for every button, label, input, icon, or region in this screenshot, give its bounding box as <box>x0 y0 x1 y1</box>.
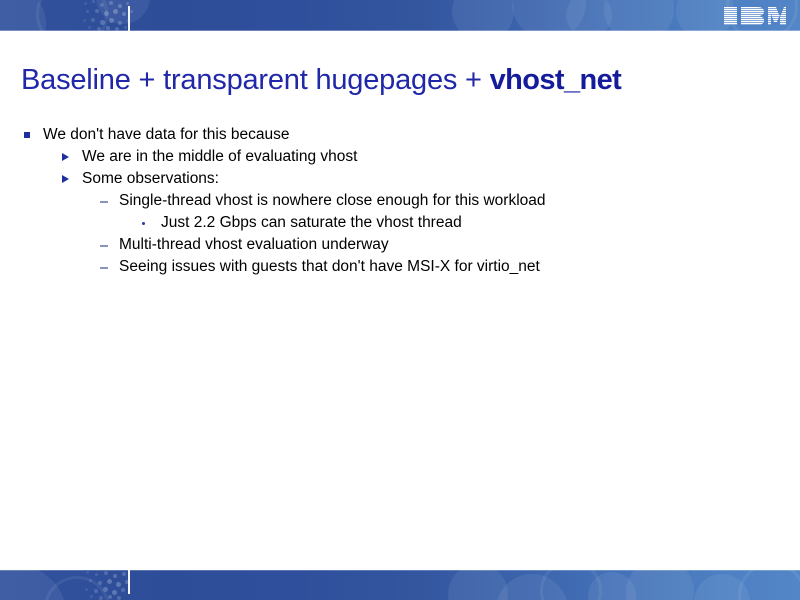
list-item: Just 2.2 Gbps can saturate the vhost thr… <box>136 212 800 234</box>
list-item: Some observations: <box>58 168 800 190</box>
bullet-dot-icon <box>142 222 145 225</box>
bullet-triangle-icon <box>62 153 69 161</box>
decorative-circle-ring <box>738 570 800 600</box>
halftone-dot-cluster <box>84 570 140 600</box>
list-item: Seeing issues with guests that don't hav… <box>96 256 800 278</box>
header-decoration <box>0 0 800 31</box>
list-item-label: Single-thread vhost is nowhere close eno… <box>119 190 546 212</box>
list-item-label: We are in the middle of evaluating vhost <box>82 146 357 168</box>
list-item-label: Multi-thread vhost evaluation underway <box>119 234 389 256</box>
bullet-dash-icon <box>100 245 108 247</box>
header-bottom-edge <box>0 30 800 31</box>
bullet-triangle-icon <box>62 175 69 183</box>
list-item-label: Seeing issues with guests that don't hav… <box>119 256 540 278</box>
list-item-label: Some observations: <box>82 168 219 190</box>
footer-tick-separator <box>128 570 130 594</box>
slide-header-band <box>0 0 800 31</box>
list-item-label: We don't have data for this because <box>43 124 290 146</box>
bullet-square-icon <box>24 132 30 138</box>
decorative-circle <box>626 570 694 600</box>
list-item: We are in the middle of evaluating vhost <box>58 146 800 168</box>
bullet-dash-icon <box>100 267 108 269</box>
ibm-logo <box>724 7 786 25</box>
slide-title-emphasis: vhost_net <box>490 64 622 96</box>
decorative-circle <box>604 0 674 31</box>
slide-canvas: Baseline + transparent hugepages + vhost… <box>0 0 800 600</box>
list-item: Single-thread vhost is nowhere close eno… <box>96 190 800 212</box>
list-item: Multi-thread vhost evaluation underway <box>96 234 800 256</box>
footer-top-edge <box>0 570 800 571</box>
bullet-dash-icon <box>100 201 108 203</box>
slide-title-plain: Baseline + transparent hugepages + <box>21 64 490 96</box>
slide-body: We don't have data for this because We a… <box>0 124 800 278</box>
list-item-label: Just 2.2 Gbps can saturate the vhost thr… <box>161 212 462 234</box>
list-item: We don't have data for this because <box>22 124 800 146</box>
footer-decoration <box>0 570 800 600</box>
decorative-circle <box>452 0 514 31</box>
slide-footer-band <box>0 570 800 600</box>
slide-title: Baseline + transparent hugepages + vhost… <box>21 62 761 98</box>
header-tick-separator <box>128 6 130 31</box>
